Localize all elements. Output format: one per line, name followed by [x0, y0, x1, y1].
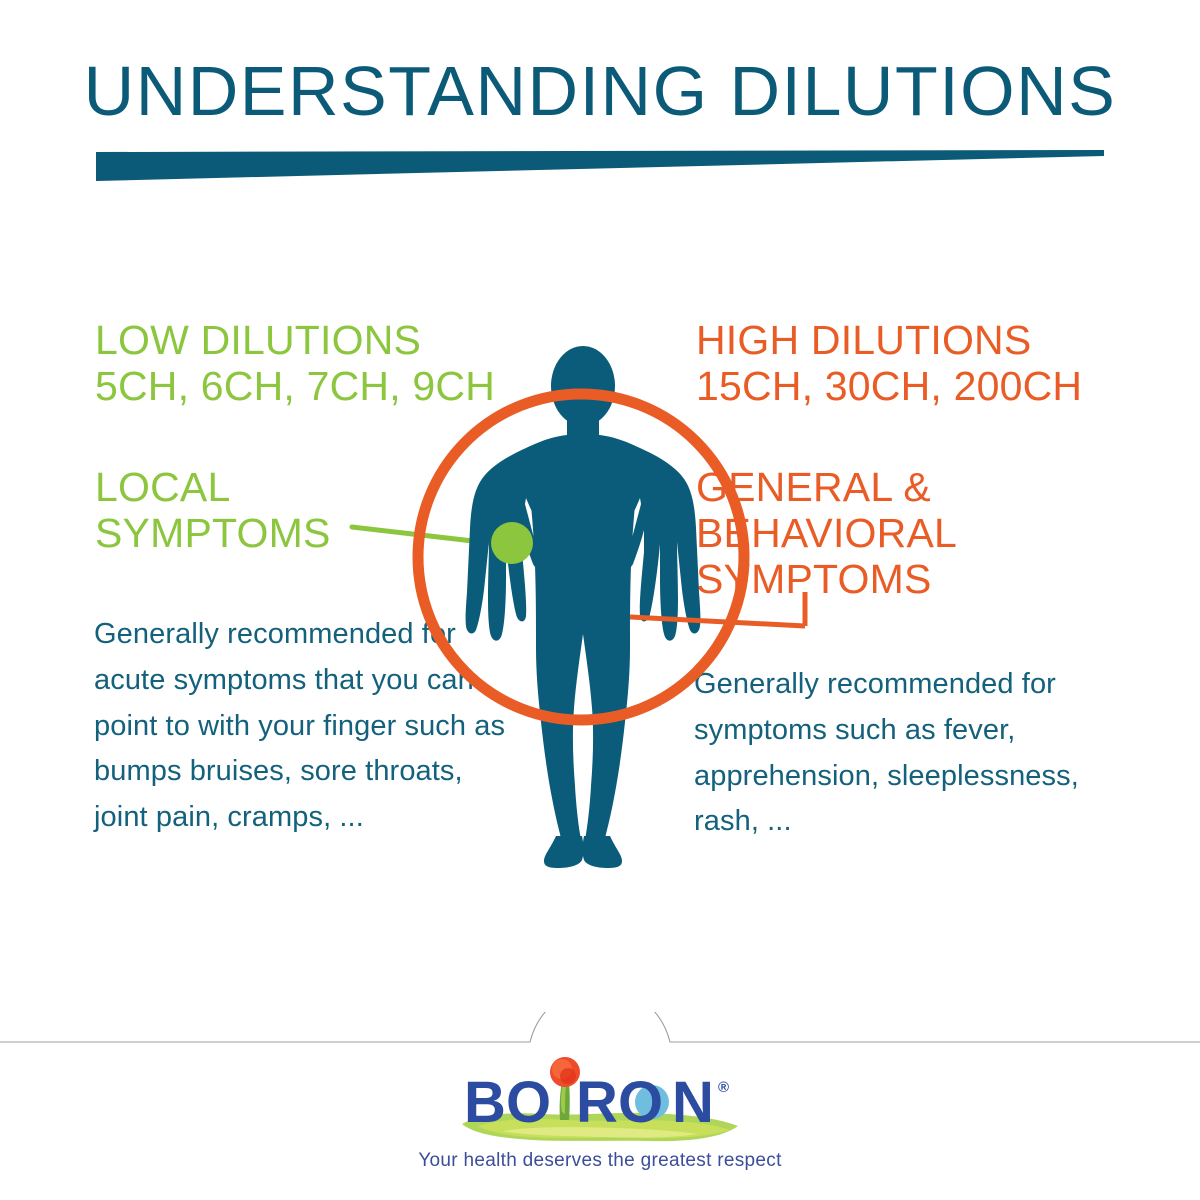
- infographic-page: UNDERSTANDING DILUTIONS LOW DILUTIONS 5C…: [0, 0, 1200, 1200]
- orange-elbow-leader-line: [630, 592, 805, 626]
- boiron-logo[interactable]: B O R O N ®: [0, 1052, 1200, 1157]
- brand-tagline: Your health deserves the greatest respec…: [0, 1150, 1200, 1172]
- central-diagram: [330, 330, 870, 900]
- svg-text:B: B: [464, 1070, 507, 1135]
- page-title: UNDERSTANDING DILUTIONS: [0, 56, 1200, 126]
- registered-trademark-symbol: ®: [718, 1079, 729, 1096]
- title-underline-wedge: [96, 150, 1104, 184]
- svg-text:N: N: [672, 1070, 715, 1135]
- logo-wordmark: B O R O N: [464, 1070, 715, 1135]
- svg-text:R: R: [576, 1070, 619, 1135]
- human-body-silhouette: [466, 346, 701, 868]
- green-dot-marker: [491, 522, 533, 564]
- svg-text:O: O: [506, 1070, 552, 1135]
- svg-text:O: O: [618, 1070, 664, 1135]
